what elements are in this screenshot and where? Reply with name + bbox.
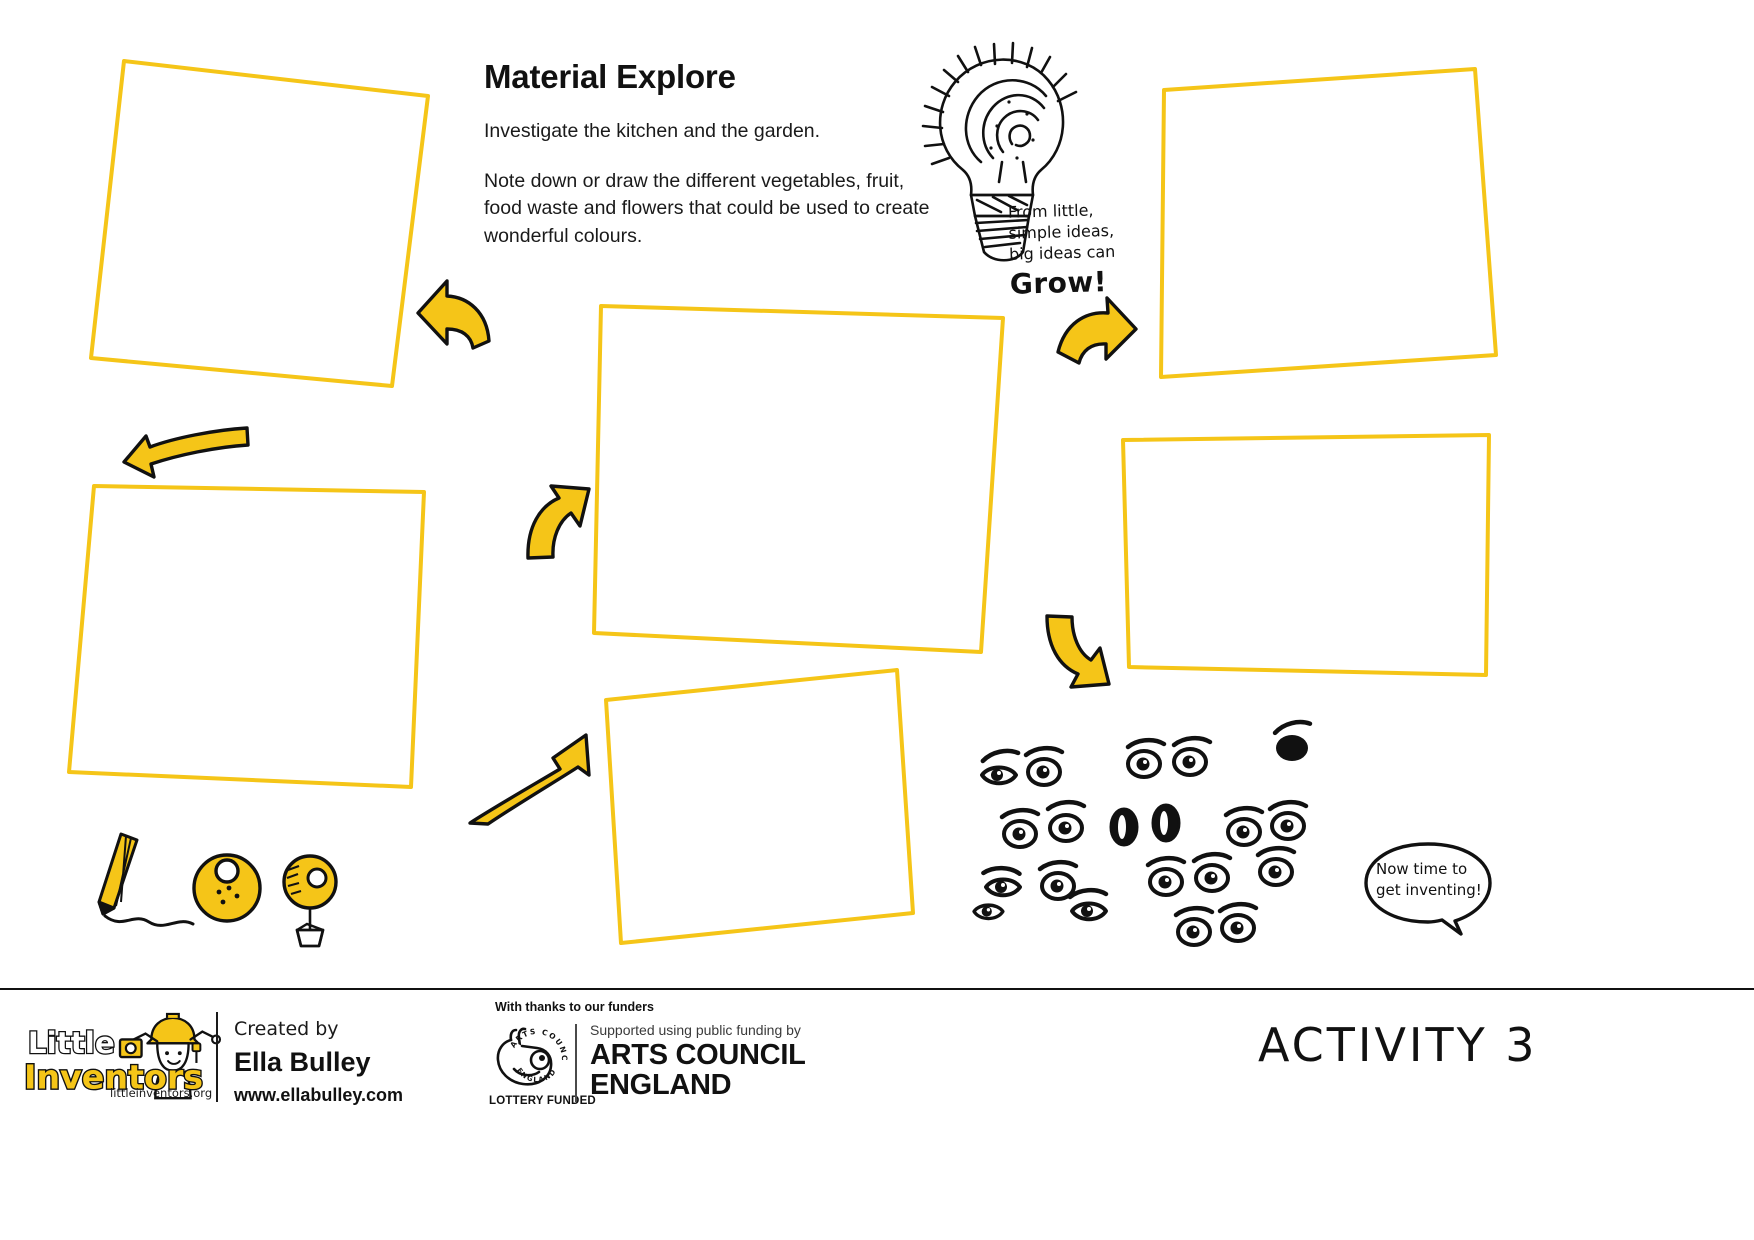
funders-label: With thanks to our funders [495, 1000, 654, 1014]
created-by-website[interactable]: www.ellabulley.com [234, 1085, 403, 1106]
footer-divider-left [216, 1012, 218, 1102]
page-title: Material Explore [484, 58, 934, 96]
svg-text:ARTS COUNCIL: ARTS COUNCIL [501, 1019, 569, 1062]
created-by-label: Created by [234, 1018, 339, 1040]
lightbulb-caption: From little, simple ideas, big ideas can… [1008, 198, 1141, 304]
arrow-to-mid-right [1047, 616, 1109, 687]
svg-text:ENGLAND: ENGLAND [515, 1067, 558, 1084]
lightbulb-caption-grow: Grow! [1009, 264, 1140, 304]
footer-divider-funders [575, 1024, 577, 1102]
activity-label: ACTIVITY 3 [1258, 1018, 1538, 1072]
logo-word-little: Little [28, 1026, 115, 1060]
intro-paragraph: Investigate the kitchen and the garden. [484, 118, 934, 146]
worksheet-page: Material Explore Investigate the kitchen… [0, 0, 1754, 1240]
arrow-to-center-lower [470, 735, 589, 824]
arts-council-roundel-icon: ARTS COUNCIL ENGLAND [504, 1026, 570, 1092]
arrow-to-center-upper [528, 486, 589, 558]
tool-icons-row [85, 830, 375, 960]
arrow-to-top-right [1058, 298, 1136, 363]
header-text-block: Material Explore Investigate the kitchen… [484, 58, 934, 251]
instruction-paragraph: Note down or draw the different vegetabl… [484, 168, 934, 251]
lightbulb-caption-text: From little, simple ideas, big ideas can [1008, 200, 1116, 263]
pencil-icon [99, 834, 193, 925]
speech-bubble: Now time to get inventing! [1362, 841, 1494, 935]
footer: Little Inventors littleinventors.org Cre… [0, 990, 1754, 1240]
speech-bubble-text: Now time to get inventing! [1376, 859, 1484, 902]
brand-url[interactable]: littleinventors.org [110, 1086, 212, 1100]
arrow-to-mid-left [124, 428, 248, 477]
arts-council-supported-text: Supported using public funding by [590, 1022, 801, 1038]
watching-eyes-decoration [960, 725, 1340, 970]
arts-council-line2: ENGLAND [590, 1069, 731, 1101]
arrow-to-top-left [418, 281, 489, 348]
arts-council-name: ARTS COUNCIL ENGLAND [590, 1040, 806, 1100]
lottery-funded-caption: LOTTERY FUNDED [489, 1095, 596, 1107]
created-by-name: Ella Bulley [234, 1047, 371, 1078]
arts-council-line1: ARTS COUNCIL [590, 1039, 806, 1071]
tape-measure-icon [284, 856, 336, 946]
paint-disc-icon [194, 855, 260, 921]
